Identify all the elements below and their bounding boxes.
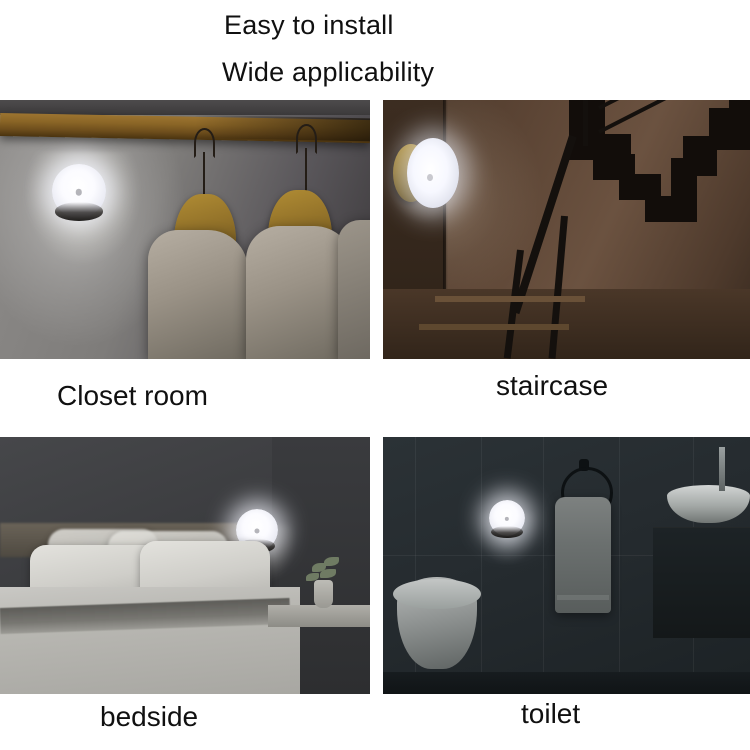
photo-panel-bedside	[0, 437, 370, 694]
staircase-landing-step	[419, 324, 569, 330]
night-light-puck-staircase	[393, 138, 465, 208]
photo-panel-closet	[0, 100, 370, 359]
night-light-rim	[491, 526, 523, 538]
bathroom-floor	[383, 672, 750, 694]
staircase-upper-rail	[583, 100, 588, 146]
closet-ceiling	[0, 100, 370, 115]
motion-sensor-dot	[427, 174, 433, 181]
staircase-step-silhouette	[729, 100, 750, 120]
heading-block: Easy to install Wide applicability	[0, 0, 750, 100]
caption-toilet: toilet	[521, 700, 580, 728]
faucet	[719, 447, 725, 491]
heading-line-easy-to-install: Easy to install	[224, 12, 394, 39]
heading-line-wide-applicability: Wide applicability	[222, 59, 434, 86]
caption-closet-room: Closet room	[57, 382, 208, 410]
night-light-lens	[407, 138, 459, 208]
staircase-landing-step	[435, 296, 585, 302]
closet-rod-shadow	[195, 115, 370, 141]
night-light-rim	[55, 202, 103, 220]
closet-garment	[338, 220, 370, 359]
night-light-puck-toilet	[489, 500, 525, 536]
photo-panel-toilet	[383, 437, 750, 694]
closet-hanger-stem	[203, 152, 205, 196]
caption-staircase: staircase	[496, 372, 608, 400]
night-light-puck-closet	[52, 164, 106, 218]
photo-panel-staircase	[383, 100, 750, 359]
plant-vase	[314, 580, 333, 608]
closet-garment	[148, 230, 248, 359]
floating-vanity	[653, 527, 750, 638]
toilet-seat	[393, 579, 481, 609]
closet-hanger-stem	[305, 148, 307, 192]
caption-bedside: bedside	[100, 703, 198, 731]
towel-stitch-band	[557, 595, 609, 600]
nightstand	[268, 605, 370, 627]
motion-sensor-dot	[254, 528, 259, 533]
